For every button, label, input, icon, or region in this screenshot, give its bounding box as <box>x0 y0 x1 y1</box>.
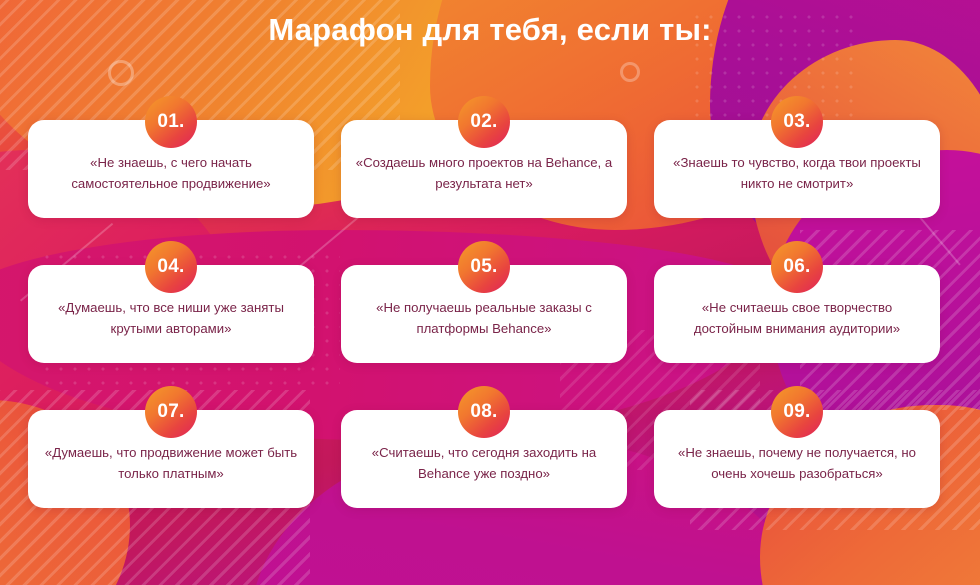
reason-badge-01: 01. <box>145 96 197 148</box>
circle-outline-icon-top-center <box>620 62 640 82</box>
page-title: Марафон для тебя, если ты: <box>0 12 980 48</box>
reason-badge-08: 08. <box>458 386 510 438</box>
reason-text-09: «Не знаешь, почему не получается, но оче… <box>668 434 926 485</box>
reason-badge-09: 09. <box>771 386 823 438</box>
reason-text-01: «Не знаешь, с чего начать самостоятельно… <box>42 144 300 195</box>
reason-badge-07: 07. <box>145 386 197 438</box>
reason-card-05[interactable]: 05. «Не получаешь реальные заказы с плат… <box>341 265 627 363</box>
reasons-grid: 01. «Не знаешь, с чего начать самостояте… <box>28 120 952 508</box>
reason-text-06: «Не считаешь свое творчество достойным в… <box>668 289 926 340</box>
reason-card-08[interactable]: 08. «Считаешь, что сегодня заходить на B… <box>341 410 627 508</box>
reason-text-03: «Знаешь то чувство, когда твои проекты н… <box>668 144 926 195</box>
reason-card-01[interactable]: 01. «Не знаешь, с чего начать самостояте… <box>28 120 314 218</box>
circle-outline-icon-top-left <box>108 60 134 86</box>
reason-badge-02: 02. <box>458 96 510 148</box>
reason-card-04[interactable]: 04. «Думаешь, что все ниши уже заняты кр… <box>28 265 314 363</box>
reason-badge-06: 06. <box>771 241 823 293</box>
reason-text-08: «Считаешь, что сегодня заходить на Behan… <box>355 434 613 485</box>
reason-card-06[interactable]: 06. «Не считаешь свое творчество достойн… <box>654 265 940 363</box>
reason-badge-03: 03. <box>771 96 823 148</box>
reason-text-05: «Не получаешь реальные заказы с платформ… <box>355 289 613 340</box>
reason-card-07[interactable]: 07. «Думаешь, что продвижение может быть… <box>28 410 314 508</box>
reason-text-02: «Создаешь много проектов на Behance, а р… <box>355 144 613 195</box>
reason-card-09[interactable]: 09. «Не знаешь, почему не получается, но… <box>654 410 940 508</box>
reason-badge-05: 05. <box>458 241 510 293</box>
reason-badge-04: 04. <box>145 241 197 293</box>
reason-card-03[interactable]: 03. «Знаешь то чувство, когда твои проек… <box>654 120 940 218</box>
reason-text-04: «Думаешь, что все ниши уже заняты крутым… <box>42 289 300 340</box>
slide-canvas: Марафон для тебя, если ты: 01. «Не знаеш… <box>0 0 980 585</box>
reason-card-02[interactable]: 02. «Создаешь много проектов на Behance,… <box>341 120 627 218</box>
reason-text-07: «Думаешь, что продвижение может быть тол… <box>42 434 300 485</box>
